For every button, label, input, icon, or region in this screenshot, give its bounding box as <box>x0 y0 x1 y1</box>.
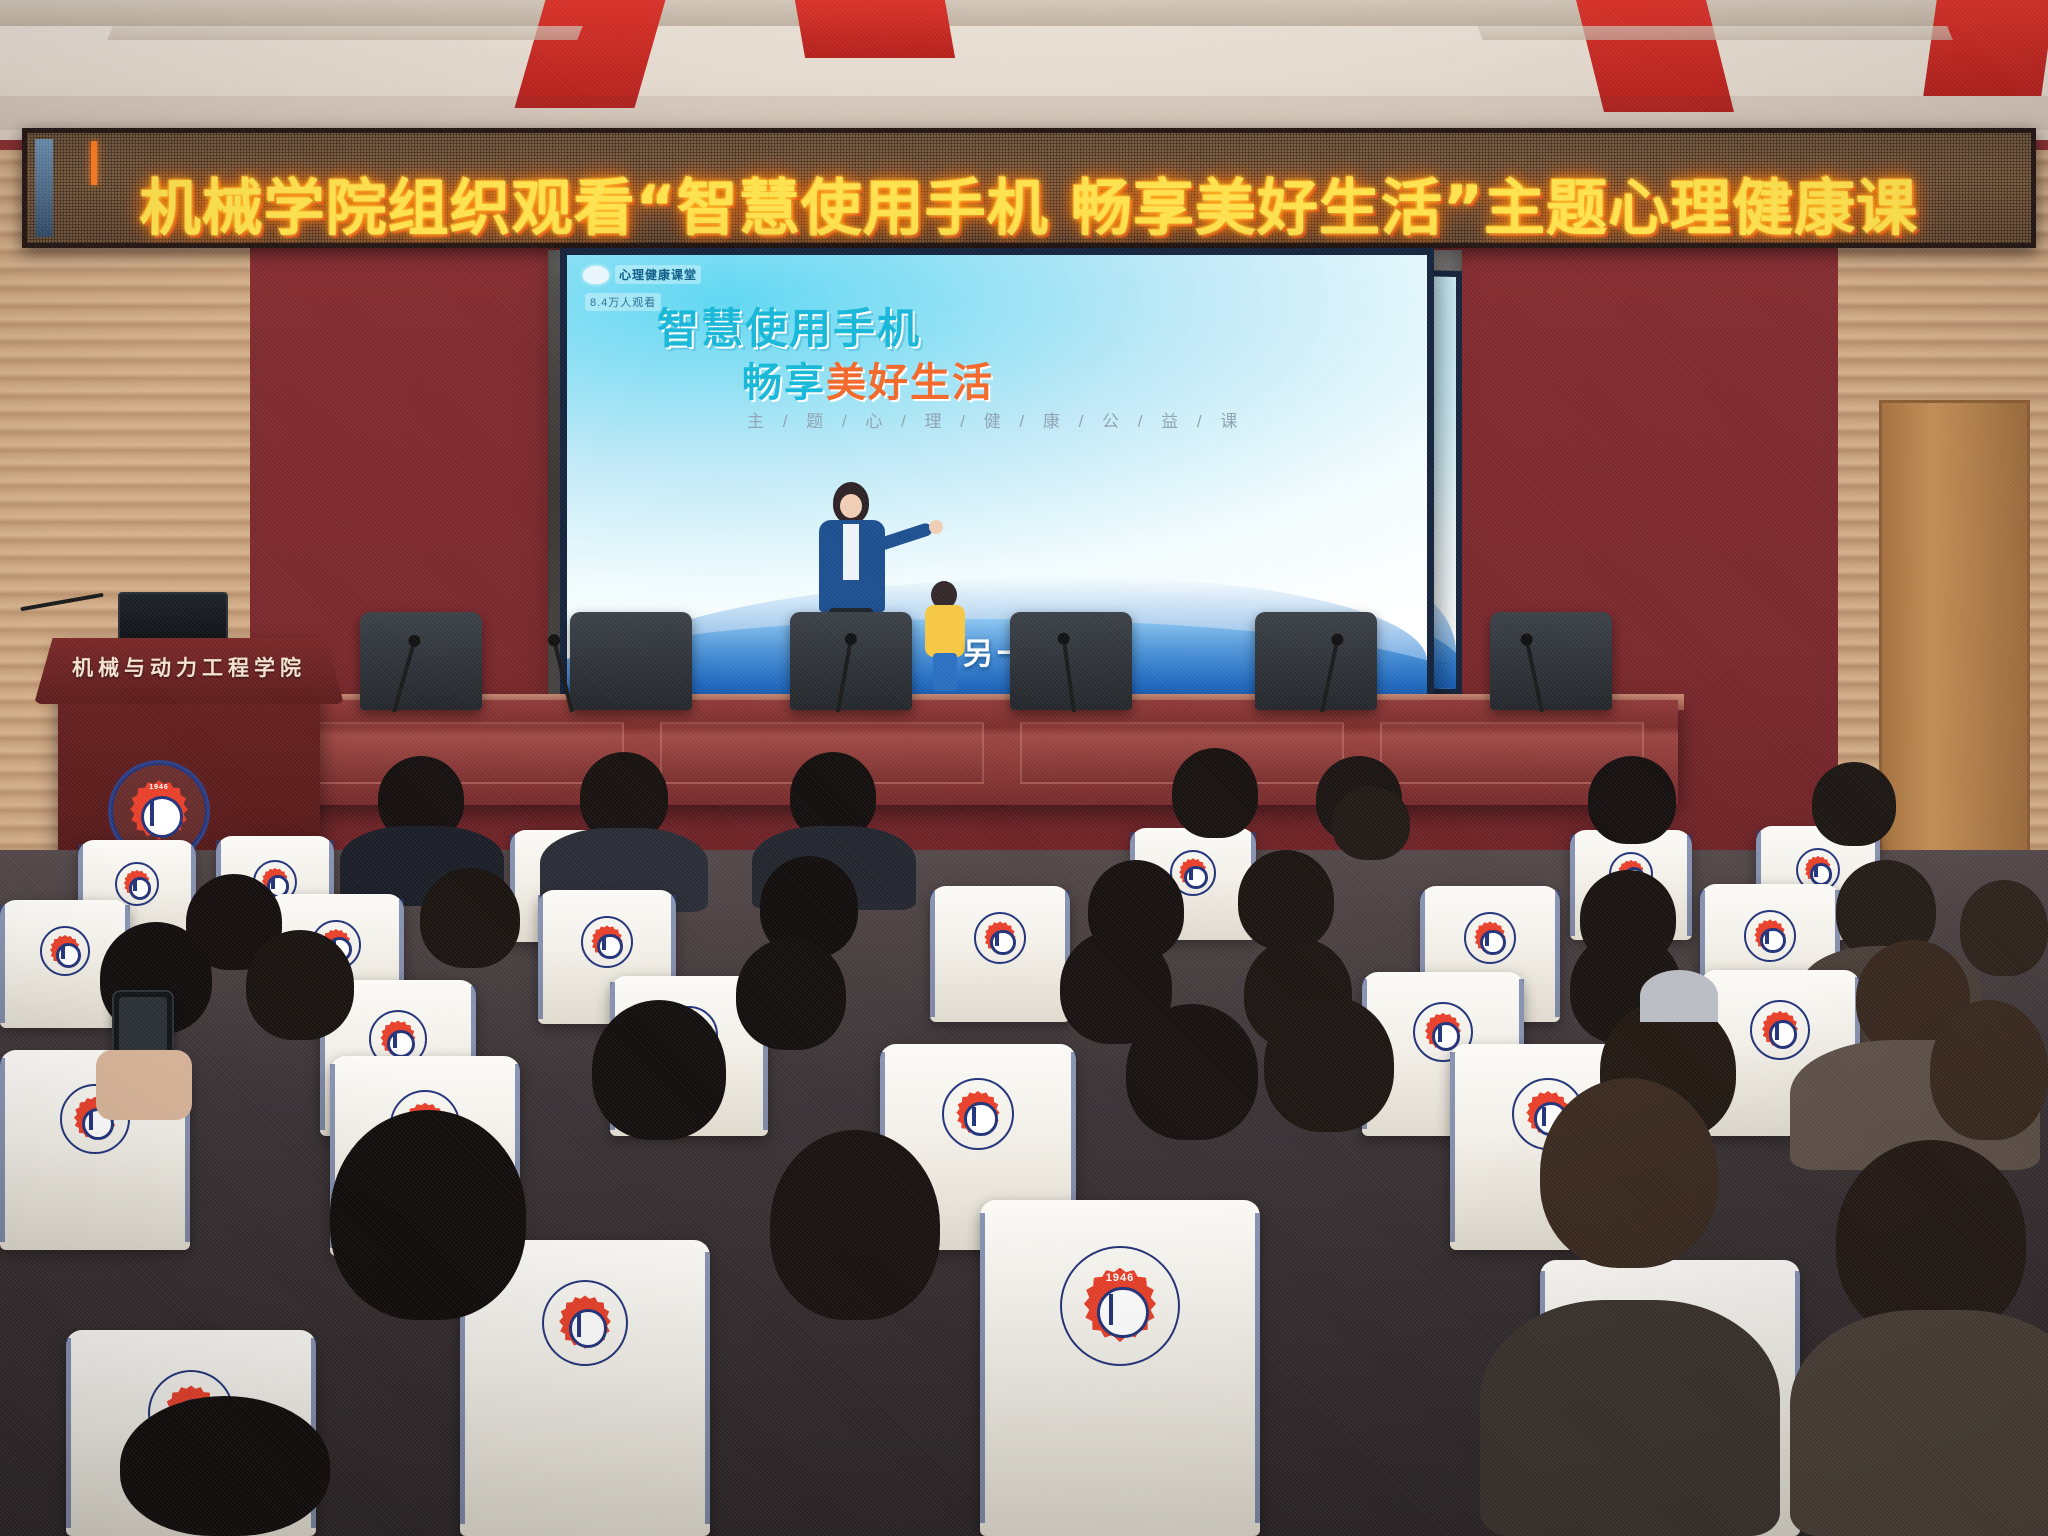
main-screen-title-part2: 美好生活 <box>826 360 994 406</box>
stage-chair[interactable] <box>790 612 912 710</box>
podium-monitor[interactable] <box>118 592 228 644</box>
ceiling-rail-right <box>1477 26 1953 40</box>
audience-head <box>120 1396 330 1536</box>
audience-head <box>1172 748 1258 838</box>
audience-head <box>1126 1004 1258 1140</box>
seat-stripe <box>705 1252 710 1524</box>
audience-head <box>420 868 520 968</box>
audience-head <box>770 1130 940 1320</box>
seat-stripe <box>1450 1052 1455 1242</box>
audience-head <box>1332 786 1410 860</box>
audience-shoulders <box>1790 1310 2048 1536</box>
led-banner-text: 机械学院组织观看“智慧使用手机 畅享美好生活”主题心理健康课 <box>140 158 1918 247</box>
school-logo: 1946 <box>1060 1246 1180 1366</box>
logo-monogram <box>1814 866 1826 877</box>
school-logo <box>115 862 159 906</box>
audience-seat[interactable]: 1946 <box>980 1200 1260 1536</box>
screen-badge: 心理健康课堂 <box>583 265 701 284</box>
seat-stripe <box>1570 834 1575 935</box>
audience-seat[interactable] <box>930 886 1070 1022</box>
seat-stripe <box>0 905 5 1023</box>
student-top <box>925 605 965 657</box>
logo-monogram <box>995 933 1008 947</box>
seat-stripe <box>66 1338 71 1528</box>
student-legs <box>933 653 957 691</box>
audience-head <box>592 1000 726 1140</box>
logo-monogram <box>393 1033 407 1048</box>
seat-stripe <box>1255 1213 1260 1522</box>
podium-label: 机械与动力工程学院 <box>44 652 334 682</box>
banner-side-strip <box>35 139 53 237</box>
logo-year: 1946 <box>1060 1272 1180 1284</box>
seat-stripe <box>980 1213 985 1522</box>
logo-monogram <box>602 937 615 951</box>
audience-hand <box>96 1050 192 1120</box>
main-screen-title-part1: 畅享 <box>742 360 826 406</box>
logo-monogram <box>61 946 74 959</box>
audience-head <box>1812 762 1896 846</box>
school-logo <box>1464 912 1516 964</box>
seat-stripe <box>930 891 935 1016</box>
presenter-shirt <box>843 524 859 580</box>
presenter-hand <box>929 520 943 534</box>
audience-head <box>1540 1078 1718 1268</box>
school-logo <box>974 912 1026 964</box>
stage-chair[interactable] <box>570 612 692 710</box>
screen-badge-label: 心理健康课堂 <box>615 265 701 284</box>
main-screen-title-line1: 智慧使用手机 <box>657 295 921 356</box>
logo-monogram <box>972 1107 989 1126</box>
photo-scene: 机械学院组织观看“智慧使用手机 畅享美好生活”主题心理健康课 智慧使用手机 畅享… <box>0 0 2048 1536</box>
logo-monogram <box>271 878 283 889</box>
presenter-face <box>840 494 862 518</box>
school-logo <box>1750 1000 1810 1060</box>
logo-year: 1946 <box>111 784 207 791</box>
school-logo <box>942 1078 1014 1150</box>
ceiling-red-panel-2 <box>795 0 955 58</box>
screen-viewer-count: 8.4万人观看 <box>585 293 661 311</box>
logo-monogram <box>133 880 145 891</box>
audience-head <box>1238 850 1334 950</box>
banner-indicator <box>91 141 97 185</box>
main-screen-subtitle: 主 / 题 / 心 / 理 / 健 / 康 / 公 / 益 / 课 <box>747 407 1244 432</box>
seat-stripe <box>538 895 543 1018</box>
logo-monogram <box>1765 931 1778 945</box>
school-logo <box>581 916 633 968</box>
school-logo <box>1744 910 1796 962</box>
school-logo <box>542 1280 628 1366</box>
audience-ponytail <box>1640 970 1718 1022</box>
seat-stripe <box>1555 891 1560 1016</box>
ceiling-shadow <box>0 96 2048 130</box>
audience-head <box>1588 756 1676 844</box>
seat-stripe <box>0 1058 5 1242</box>
stage-chair[interactable] <box>360 612 482 710</box>
dove-icon <box>583 266 609 284</box>
seat-stripe <box>1687 834 1692 935</box>
stage-chair[interactable] <box>1255 612 1377 710</box>
logo-monogram <box>1485 933 1498 947</box>
logo-monogram <box>1109 1294 1135 1325</box>
stage-table-panel-1 <box>300 722 624 784</box>
audience-head <box>330 1110 526 1320</box>
ceiling-beam <box>0 0 2048 26</box>
logo-monogram <box>150 801 171 826</box>
ceiling-rail-left <box>107 26 583 40</box>
audience-head <box>246 930 354 1040</box>
logo-monogram <box>1775 1024 1790 1040</box>
logo-monogram <box>1438 1026 1453 1042</box>
main-screen-title-line2: 畅享美好生活 <box>742 350 994 408</box>
audience-head <box>1960 880 2048 976</box>
stage-chair[interactable] <box>1490 612 1612 710</box>
logo-monogram <box>577 1314 596 1336</box>
audience-head <box>1264 996 1394 1132</box>
audience-head <box>736 938 846 1050</box>
presenter-arm <box>876 522 933 552</box>
audience-head <box>1930 1000 2048 1140</box>
school-logo <box>40 926 90 976</box>
led-banner: 机械学院组织观看“智慧使用手机 畅享美好生活”主题心理健康课 <box>22 128 2036 248</box>
side-door[interactable] <box>1879 400 2030 866</box>
audience-shoulders <box>1480 1300 1780 1536</box>
logo-monogram <box>1189 868 1201 880</box>
ceiling-red-panel-4 <box>1923 0 2048 96</box>
